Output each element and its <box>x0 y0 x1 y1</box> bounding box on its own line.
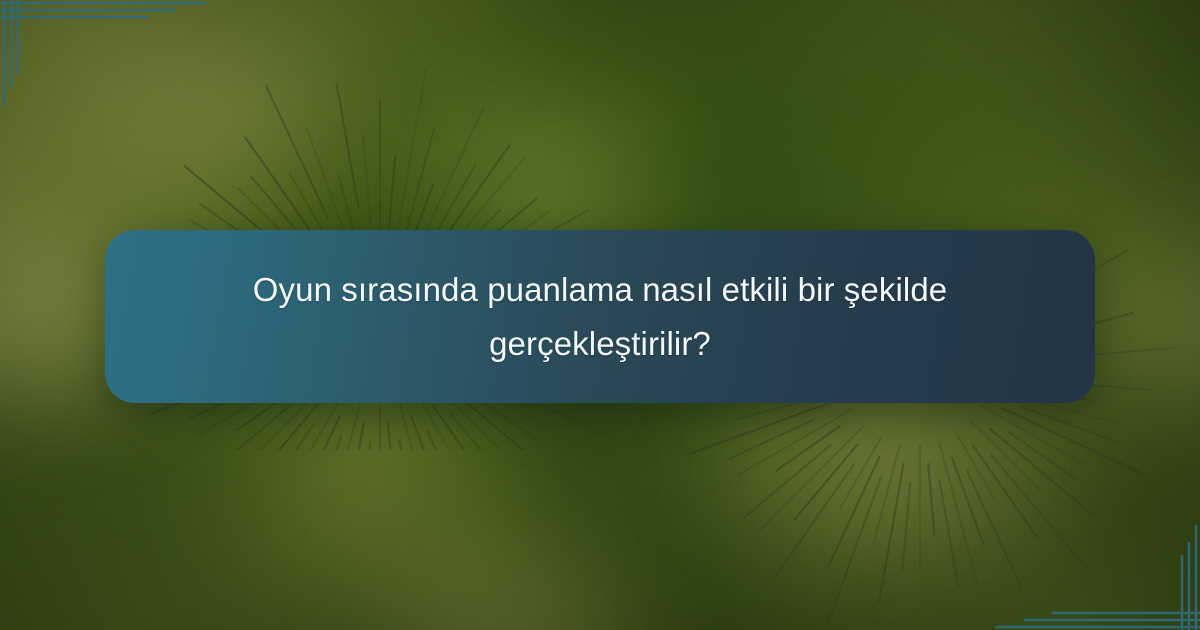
share-card-canvas: Oyun sırasında puanlama nasıl etkili bir… <box>0 0 1200 630</box>
quote-text: Oyun sırasında puanlama nasıl etkili bir… <box>250 263 950 370</box>
quote-card: Oyun sırasında puanlama nasıl etkili bir… <box>105 230 1095 403</box>
